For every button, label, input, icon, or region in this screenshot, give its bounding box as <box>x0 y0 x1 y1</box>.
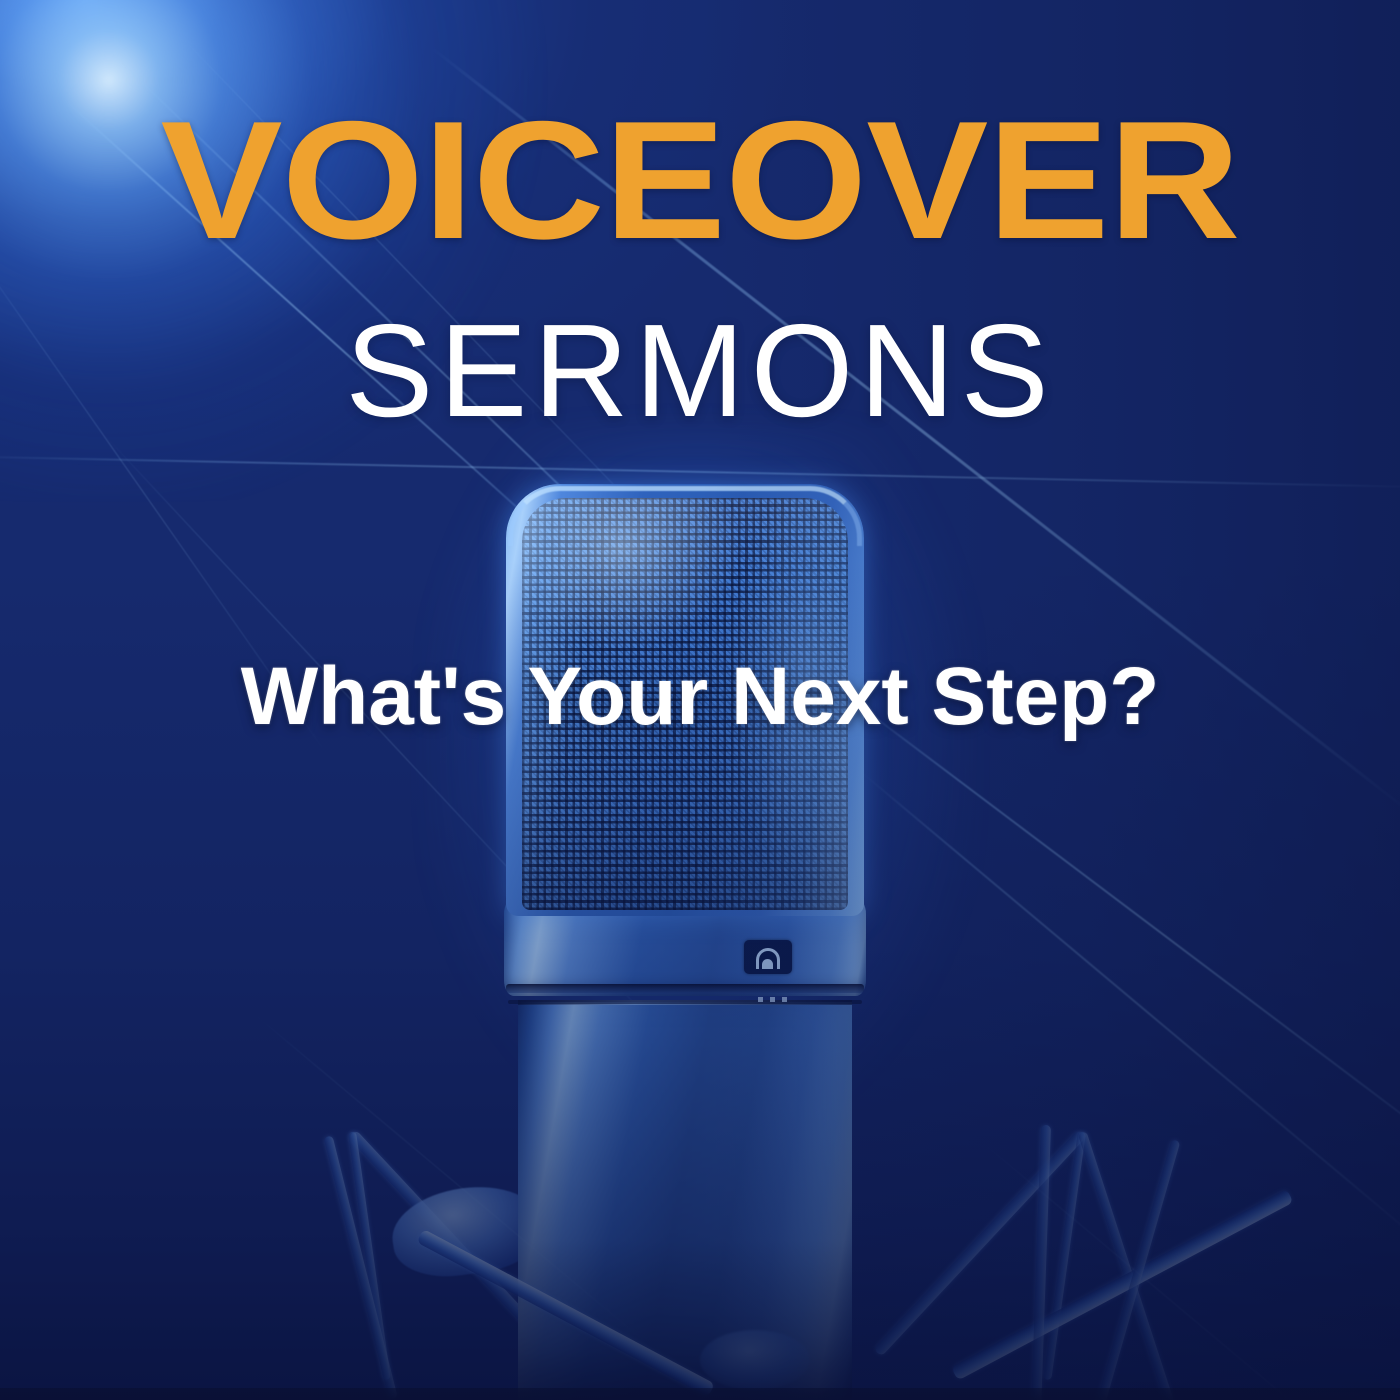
tagline: What's Your Next Step? <box>0 656 1400 738</box>
bottom-edge-strip <box>0 1388 1400 1400</box>
title-line-secondary: SERMONS <box>0 305 1400 437</box>
podcast-cover-art: VOICEOVER SERMONS What's Your Next Step? <box>0 0 1400 1400</box>
title-line-primary: VOICEOVER <box>0 96 1400 264</box>
